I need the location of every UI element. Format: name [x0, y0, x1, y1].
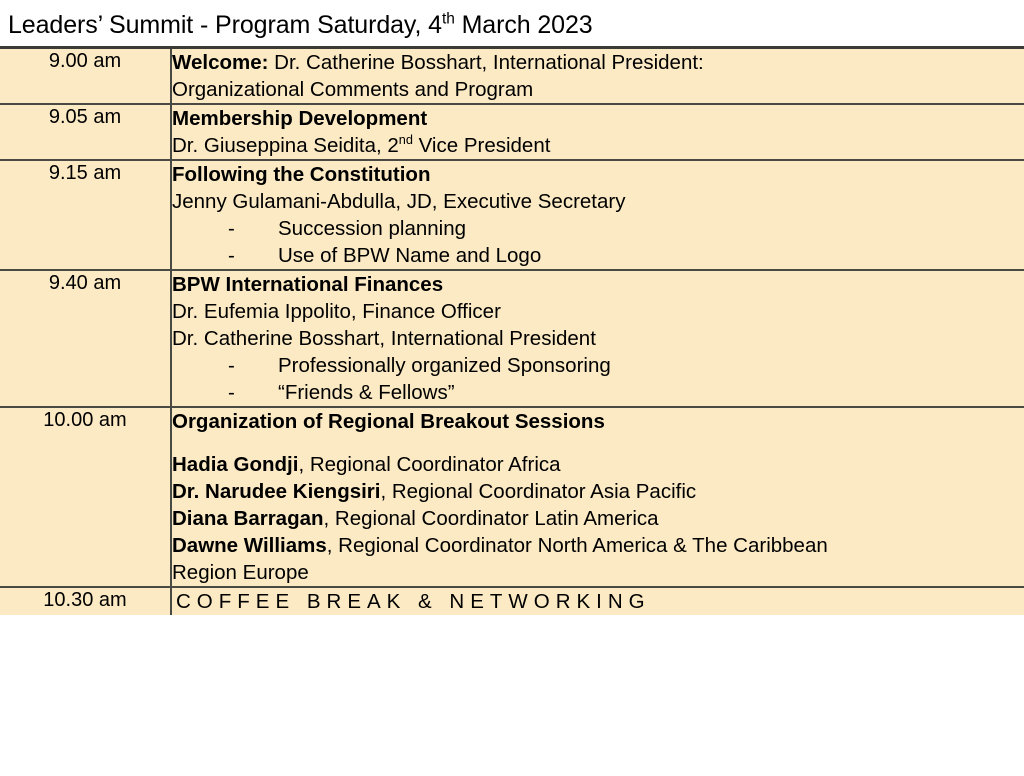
session-description-cell: BPW International FinancesDr. Eufemia Ip… [171, 270, 1024, 407]
line-text: Organization of Regional Breakout Sessio… [172, 410, 605, 433]
bullet-dash-icon: - [228, 215, 235, 242]
session-heading: Following the Constitution [172, 161, 1024, 188]
session-time-cell: 10.00 am [0, 407, 171, 587]
session-heading: Organization of Regional Breakout Sessio… [172, 408, 1024, 435]
line-text: , Regional Coordinator North America & T… [327, 534, 828, 557]
line-text: Following the Constitution [172, 163, 430, 186]
program-table-body: 9.00 amWelcome: Dr. Catherine Bosshart, … [0, 48, 1024, 616]
table-row: 9.05 amMembership DevelopmentDr. Giusepp… [0, 104, 1024, 160]
emphasis-text: Diana Barragan [172, 507, 324, 530]
line-text: Jenny Gulamani-Abdulla, JD, Executive Se… [172, 190, 625, 213]
bullet-text: Professionally organized Sponsoring [228, 352, 611, 379]
table-row: 10.00 amOrganization of Regional Breakou… [0, 407, 1024, 587]
bullet-item: -Use of BPW Name and Logo [172, 242, 1024, 269]
session-detail-line: Hadia Gondji, Regional Coordinator Afric… [172, 451, 1024, 478]
table-row: 9.40 amBPW International FinancesDr. Euf… [0, 270, 1024, 407]
page-title-ordinal-suffix: th [442, 11, 455, 28]
bullet-dash-icon: - [228, 379, 235, 406]
program-table: 9.00 amWelcome: Dr. Catherine Bosshart, … [0, 46, 1024, 615]
session-time-cell: 9.15 am [0, 160, 171, 270]
line-text: , Regional Coordinator Latin America [324, 507, 659, 530]
session-detail-line: Dawne Williams, Regional Coordinator Nor… [172, 532, 1024, 559]
line-text: Dr. Catherine Bosshart, International Pr… [172, 327, 596, 350]
bullet-text: Succession planning [228, 215, 466, 242]
bullet-dash-icon: - [228, 352, 235, 379]
session-time-cell: 9.00 am [0, 48, 171, 105]
session-heading: Membership Development [172, 105, 1024, 132]
session-description-cell: Following the ConstitutionJenny Gulamani… [171, 160, 1024, 270]
line-text: , Regional Coordinator Africa [298, 453, 560, 476]
line-text: Region Europe [172, 561, 309, 584]
session-time-cell: 10.30 am [0, 587, 171, 615]
emphasis-text: Dr. Narudee Kiengsiri [172, 480, 380, 503]
session-detail-line: Dr. Catherine Bosshart, International Pr… [172, 325, 1024, 352]
bullet-item: -Professionally organized Sponsoring [172, 352, 1024, 379]
line-text-after: Vice President [413, 134, 551, 157]
page-title-before: Leaders’ Summit - Program Saturday, 4 [8, 11, 442, 39]
emphasis-text: Hadia Gondji [172, 453, 298, 476]
session-detail-line: Dr. Giuseppina Seidita, 2nd Vice Preside… [172, 132, 1024, 159]
document-page: Leaders’ Summit - Program Saturday, 4th … [0, 0, 1024, 776]
table-row: 10.30 amCOFFEE BREAK & NETWORKING [0, 587, 1024, 615]
line-text: Organizational Comments and Program [172, 78, 533, 101]
session-description-cell: Membership DevelopmentDr. Giuseppina Sei… [171, 104, 1024, 160]
session-detail-line: Dr. Eufemia Ippolito, Finance Officer [172, 298, 1024, 325]
session-detail-line: Welcome: Dr. Catherine Bosshart, Interna… [172, 49, 1024, 76]
table-row: 9.00 amWelcome: Dr. Catherine Bosshart, … [0, 48, 1024, 105]
bullet-item: -“Friends & Fellows” [172, 379, 1024, 406]
line-text: Dr. Eufemia Ippolito, Finance Officer [172, 300, 501, 323]
bullet-text: Use of BPW Name and Logo [228, 242, 541, 269]
bullet-text: “Friends & Fellows” [228, 379, 455, 406]
bullet-item: -Succession planning [172, 215, 1024, 242]
session-description-cell: Organization of Regional Breakout Sessio… [171, 407, 1024, 587]
page-title-after: March 2023 [455, 11, 593, 39]
emphasis-text: Dawne Williams [172, 534, 327, 557]
ordinal-suffix: nd [399, 132, 413, 147]
session-detail-line: Region Europe [172, 559, 1024, 586]
session-time-cell: 9.05 am [0, 104, 171, 160]
table-row: 9.15 amFollowing the ConstitutionJenny G… [0, 160, 1024, 270]
session-detail-line: Jenny Gulamani-Abdulla, JD, Executive Se… [172, 188, 1024, 215]
session-description-cell: COFFEE BREAK & NETWORKING [171, 587, 1024, 615]
paragraph-spacer [172, 435, 1024, 451]
session-time-cell: 9.40 am [0, 270, 171, 407]
session-detail-line: Organizational Comments and Program [172, 76, 1024, 103]
bullet-dash-icon: - [228, 242, 235, 269]
session-detail-line: Diana Barragan, Regional Coordinator Lat… [172, 505, 1024, 532]
session-description-cell: Welcome: Dr. Catherine Bosshart, Interna… [171, 48, 1024, 105]
line-text: , Regional Coordinator Asia Pacific [380, 480, 696, 503]
page-title: Leaders’ Summit - Program Saturday, 4th … [0, 0, 1024, 46]
line-text: Dr. Catherine Bosshart, International Pr… [268, 51, 703, 74]
line-text: Membership Development [172, 107, 427, 130]
session-detail-line: Dr. Narudee Kiengsiri, Regional Coordina… [172, 478, 1024, 505]
line-text: BPW International Finances [172, 273, 443, 296]
emphasis-text: Welcome: [172, 51, 268, 74]
coffee-break-label: COFFEE BREAK & NETWORKING [172, 588, 1024, 615]
session-heading: BPW International Finances [172, 271, 1024, 298]
line-text: Dr. Giuseppina Seidita, 2 [172, 134, 399, 157]
